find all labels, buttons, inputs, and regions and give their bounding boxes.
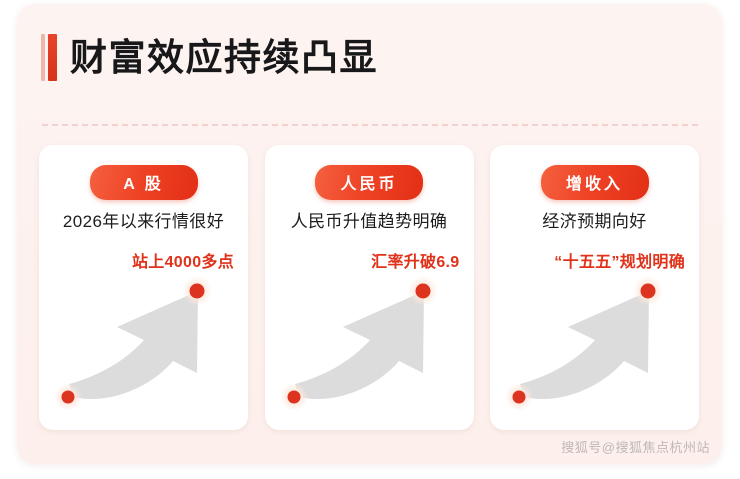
growth-arrow-icon (271, 269, 468, 424)
accent-bar-thin (41, 34, 45, 81)
card-badge: 增收入 (541, 165, 649, 200)
title-accent-bar (41, 34, 57, 81)
info-card-a-shares[interactable]: A 股 2026年以来行情很好 站上4000多点 (39, 145, 248, 430)
card-headline: 人民币升值趋势明确 (265, 207, 474, 232)
cards-row: A 股 2026年以来行情很好 站上4000多点 人民币 人民币升值趋 (39, 145, 699, 430)
panel-header: 财富效应持续凸显 (41, 34, 378, 81)
card-badge: A 股 (90, 165, 198, 200)
accent-bar-thick (48, 34, 57, 81)
card-badge: 人民币 (315, 165, 423, 200)
info-card-income[interactable]: 增收入 经济预期向好 “十五五”规划明确 (490, 145, 699, 430)
header-divider (42, 124, 698, 126)
info-card-rmb[interactable]: 人民币 人民币升值趋势明确 汇率升破6.9 (265, 145, 474, 430)
card-headline: 经济预期向好 (490, 207, 699, 232)
card-headline: 2026年以来行情很好 (39, 207, 248, 232)
infographic-panel: 财富效应持续凸显 A 股 2026年以来行情很好 站上4000多点 (17, 4, 722, 464)
growth-arrow-icon (45, 269, 242, 424)
page-title: 财富效应持续凸显 (70, 39, 378, 76)
watermark: 搜狐号@搜狐焦点杭州站 (561, 437, 710, 456)
growth-arrow-icon (496, 269, 693, 424)
